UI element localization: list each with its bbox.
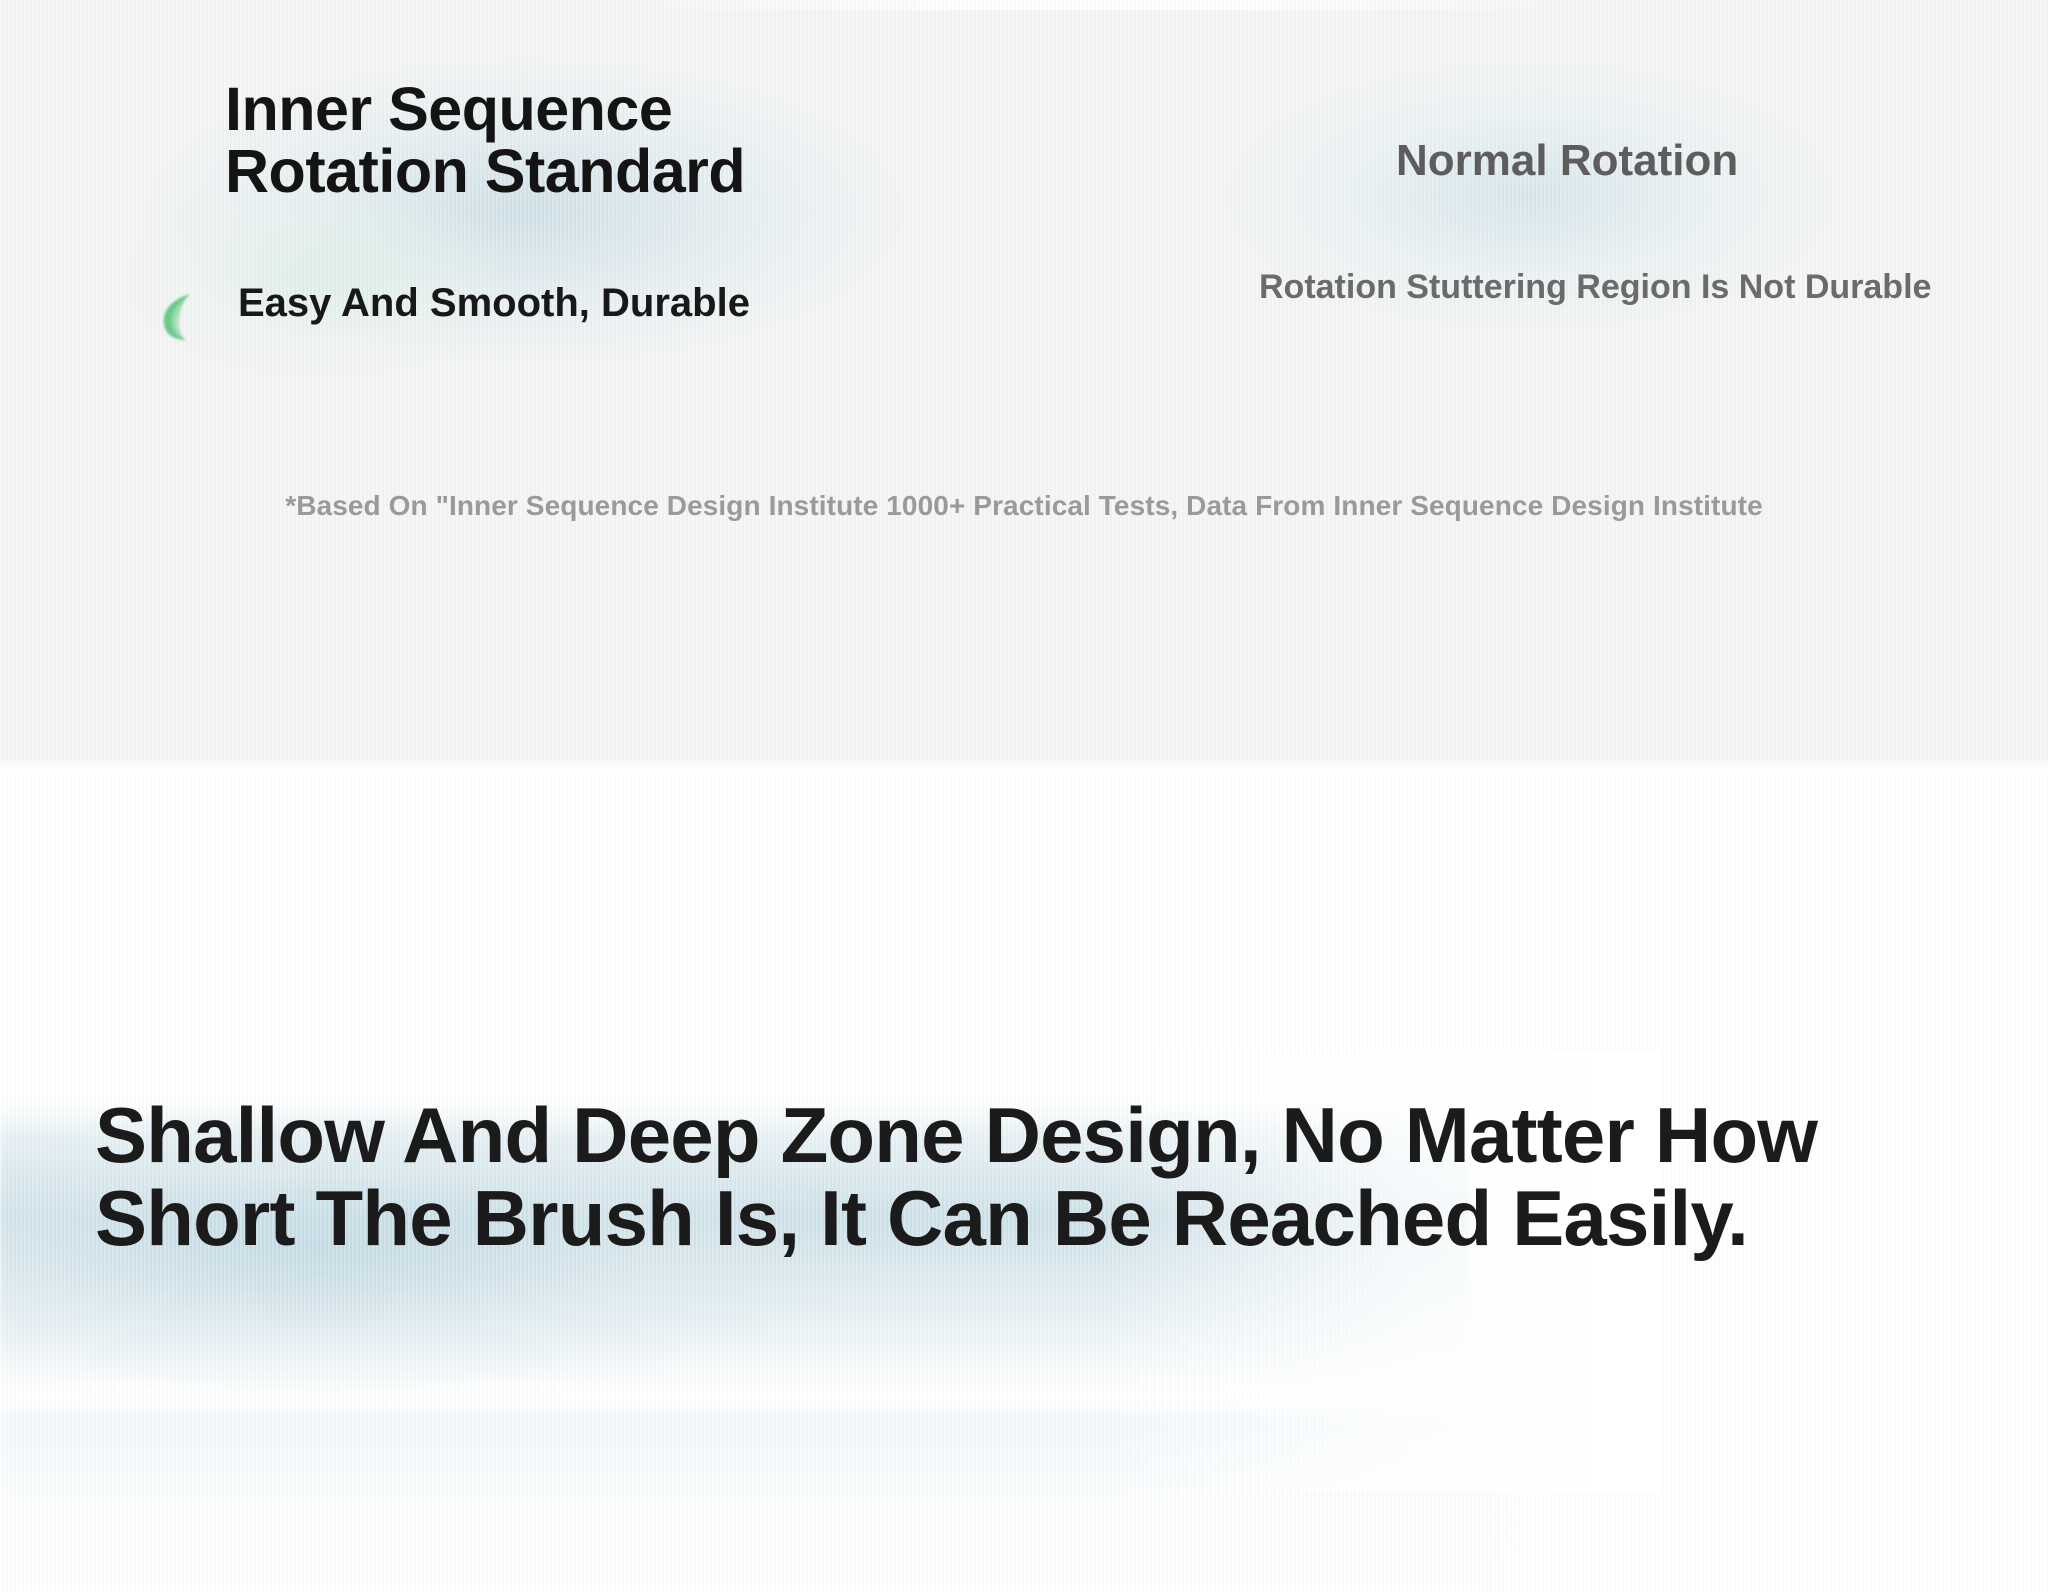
- right-column-subheadline: Rotation Stuttering Region Is Not Durabl…: [1259, 268, 2019, 306]
- comparison-section: Inner Sequence Rotation Standard Easy An…: [0, 0, 2048, 772]
- comparison-column-right: Normal Rotation Rotation Stuttering Regi…: [1024, 0, 2048, 480]
- right-column-headline: Normal Rotation: [1396, 138, 2048, 184]
- hero-bottom-tint: [0, 1412, 1500, 1592]
- left-column-subheadline: Easy And Smooth, Durable: [238, 282, 958, 324]
- comparison-column-left: Inner Sequence Rotation Standard Easy An…: [0, 0, 1024, 480]
- hero-section: Shallow And Deep Zone Design, No Matter …: [0, 772, 2048, 1592]
- footnote-disclaimer: *Based On "Inner Sequence Design Institu…: [0, 490, 2048, 522]
- panel-bottom-edge: [0, 758, 2048, 772]
- hero-headline: Shallow And Deep Zone Design, No Matter …: [95, 1094, 1965, 1261]
- left-column-headline: Inner Sequence Rotation Standard: [225, 78, 925, 202]
- leaf-check-badge-icon: [160, 290, 194, 342]
